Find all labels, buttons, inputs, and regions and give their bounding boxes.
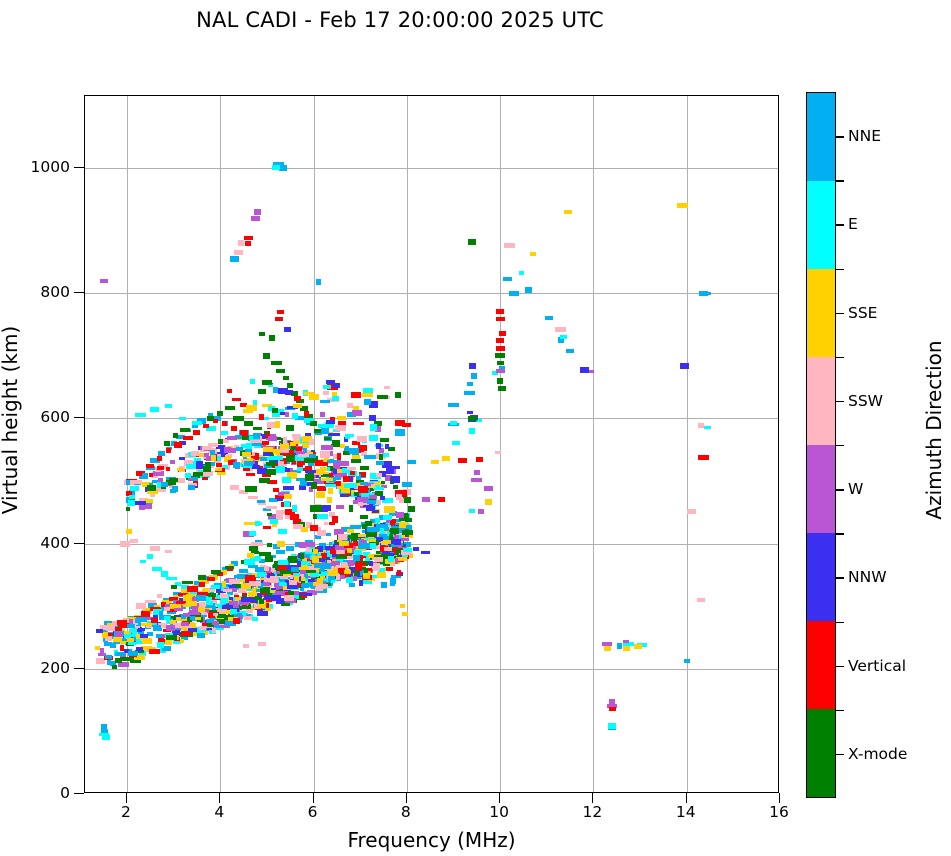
x-axis-tick-label: 6 [308, 803, 318, 821]
colorbar-tick [836, 401, 844, 402]
data-point [199, 626, 206, 630]
data-point [343, 476, 350, 482]
data-point [283, 486, 294, 490]
data-point [272, 165, 280, 170]
data-point [397, 570, 401, 576]
data-point [687, 509, 696, 514]
data-point [336, 505, 344, 509]
data-point [179, 417, 186, 420]
data-point [238, 240, 244, 246]
data-point [188, 485, 195, 490]
colorbar-label-nnw: NNW [848, 568, 887, 586]
data-point [258, 389, 266, 394]
data-point [179, 457, 185, 460]
data-point [221, 599, 226, 604]
data-point [164, 607, 170, 611]
colorbar-tick [836, 577, 844, 578]
data-point [233, 618, 240, 624]
data-point [338, 461, 349, 466]
data-point [283, 437, 287, 444]
data-point [317, 486, 326, 491]
data-point [285, 390, 293, 395]
data-point [177, 468, 185, 471]
data-point [317, 514, 328, 519]
data-point [316, 492, 325, 498]
data-point [192, 421, 202, 425]
data-point [212, 621, 219, 625]
data-point [438, 497, 445, 502]
data-point [192, 477, 198, 481]
data-point [338, 534, 347, 540]
data-point [305, 470, 316, 473]
data-point [100, 279, 108, 283]
data-point [376, 461, 384, 465]
data-point [309, 394, 319, 400]
data-point [211, 570, 221, 574]
data-point [321, 445, 333, 450]
data-point [105, 655, 112, 659]
data-point [386, 467, 394, 474]
data-point [485, 499, 492, 505]
data-point [476, 457, 483, 462]
data-point [323, 385, 331, 389]
data-point [262, 380, 272, 385]
colorbar-tick [836, 224, 844, 225]
data-point [258, 642, 266, 646]
data-point [140, 560, 146, 563]
data-point [337, 453, 341, 460]
colorbar-segment-vertical [807, 621, 835, 709]
data-point [150, 407, 159, 412]
data-point [196, 595, 206, 601]
data-point [129, 495, 135, 499]
data-point [270, 519, 278, 524]
data-point [128, 642, 136, 645]
colorbar-boundary-tick [836, 357, 844, 358]
data-point [119, 623, 127, 628]
data-point [284, 595, 294, 601]
data-point [120, 541, 130, 547]
data-point [276, 550, 285, 554]
data-point [580, 367, 589, 373]
data-point [677, 203, 688, 208]
data-point [504, 243, 515, 248]
data-point [495, 353, 505, 358]
data-point [218, 439, 223, 444]
data-point [474, 470, 480, 475]
x-axis-tick-label: 12 [583, 803, 603, 821]
data-point [212, 606, 216, 610]
data-point [157, 482, 161, 488]
data-point [173, 433, 178, 438]
data-point [211, 455, 216, 461]
data-point [253, 400, 257, 405]
data-point [164, 616, 170, 620]
colorbar-label-w: W [848, 480, 863, 498]
data-point [220, 593, 224, 598]
x-axis-label: Frequency (MHz) [84, 828, 779, 852]
data-point [399, 498, 404, 503]
data-point [497, 378, 503, 384]
data-point [496, 369, 505, 373]
data-point [372, 510, 379, 513]
data-point [292, 505, 297, 512]
x-axis-tick-label: 10 [489, 803, 509, 821]
data-point [157, 466, 164, 470]
data-point [377, 572, 386, 578]
data-point [347, 529, 354, 533]
colorbar-segment-sse [807, 269, 835, 357]
data-point [217, 472, 226, 475]
data-point [383, 515, 392, 520]
data-point [233, 604, 239, 608]
data-point [399, 522, 406, 528]
data-point [309, 439, 314, 445]
data-point [484, 486, 493, 491]
colorbar-segment-ssw [807, 357, 835, 445]
data-point [138, 628, 145, 631]
data-point [271, 595, 281, 601]
data-point [300, 561, 311, 565]
data-point [363, 573, 370, 579]
data-point [208, 593, 216, 597]
data-point [684, 659, 690, 663]
data-point [335, 425, 346, 431]
data-point [293, 524, 303, 529]
data-point [452, 441, 460, 445]
data-point [202, 477, 208, 480]
data-point [371, 484, 375, 487]
data-point [380, 438, 389, 442]
data-point [609, 707, 616, 711]
data-point [142, 473, 148, 478]
colorbar-label-nne: NNE [848, 127, 881, 145]
data-point [230, 256, 239, 262]
data-point [181, 622, 189, 626]
colorbar-segment-w [807, 445, 835, 533]
data-point [157, 642, 164, 648]
data-point [276, 571, 280, 574]
x-axis-tick-label: 8 [401, 803, 411, 821]
data-point [271, 361, 282, 365]
data-point [347, 549, 352, 553]
data-point [369, 561, 373, 566]
y-axis-tick-label: 400 [40, 534, 70, 552]
data-point [321, 428, 329, 434]
data-point [245, 486, 257, 492]
data-point [186, 601, 197, 606]
data-point [286, 425, 294, 431]
data-point [286, 546, 294, 551]
colorbar-label: Azimuth Direction [922, 340, 946, 519]
data-point [140, 634, 148, 638]
data-point [321, 462, 328, 466]
data-point [227, 436, 237, 440]
data-point [311, 482, 317, 489]
data-point [251, 542, 263, 546]
y-axis-tick-label: 800 [40, 283, 70, 301]
data-point [298, 454, 309, 457]
data-point [245, 241, 251, 246]
data-point [319, 558, 325, 562]
data-point [350, 471, 355, 475]
data-point [222, 421, 227, 426]
data-point [127, 624, 135, 628]
data-point [300, 481, 307, 486]
data-point [241, 597, 251, 602]
data-point [255, 567, 264, 572]
data-point [181, 616, 186, 619]
y-axis-tick [74, 793, 84, 794]
data-point [498, 386, 506, 391]
colorbar-boundary-tick [836, 445, 844, 446]
x-axis-tick-label: 2 [121, 803, 131, 821]
data-point [525, 287, 532, 293]
x-axis-tick-label: 14 [676, 803, 696, 821]
colorbar-segment-nnw [807, 533, 835, 621]
x-axis-tick [219, 793, 220, 803]
data-point [377, 395, 388, 399]
data-point [319, 569, 325, 572]
data-point [225, 566, 234, 569]
data-point [248, 496, 258, 499]
data-point [207, 416, 214, 421]
data-point [283, 376, 289, 380]
data-point [202, 446, 212, 450]
data-point [185, 473, 191, 478]
data-point [331, 580, 335, 583]
data-point [212, 628, 216, 633]
data-point [293, 404, 302, 408]
data-point [244, 421, 253, 426]
data-point [468, 416, 477, 421]
data-point [115, 652, 125, 656]
data-point [403, 548, 412, 552]
data-point [201, 612, 207, 615]
ionogram-plot-area [84, 95, 779, 793]
data-point [276, 451, 280, 456]
colorbar-tick [836, 136, 844, 137]
data-point [263, 447, 273, 452]
colorbar-tick [836, 313, 844, 314]
data-point [357, 436, 367, 442]
data-point [320, 412, 325, 417]
data-point [389, 534, 393, 540]
data-point [341, 488, 350, 493]
data-point [259, 552, 271, 556]
data-point [135, 501, 146, 505]
data-point [519, 271, 524, 275]
data-point [276, 601, 283, 604]
colorbar-label-vertical: Vertical [848, 657, 906, 675]
data-point [496, 317, 505, 321]
data-point [388, 556, 394, 562]
data-point [353, 406, 359, 410]
x-axis-tick [686, 793, 687, 803]
scatter-points-layer [85, 96, 778, 792]
data-point [395, 512, 400, 515]
data-point [323, 391, 329, 395]
colorbar-boundary-tick [836, 533, 844, 534]
data-point [126, 480, 130, 485]
data-point [147, 632, 153, 636]
data-point [166, 625, 175, 631]
data-point [112, 665, 117, 669]
data-point [321, 478, 333, 481]
data-point [259, 332, 265, 336]
data-point [267, 513, 272, 516]
data-point [285, 412, 289, 417]
data-point [233, 462, 240, 468]
data-point [191, 451, 199, 456]
data-point [564, 210, 572, 214]
data-point [149, 473, 153, 477]
data-point [393, 485, 398, 489]
data-point [253, 433, 260, 439]
colorbar-segment-nne [807, 93, 835, 181]
data-point [196, 464, 202, 469]
data-point [356, 476, 361, 480]
data-point [330, 417, 335, 420]
data-point [623, 646, 630, 651]
data-point [359, 482, 368, 485]
data-point [469, 428, 475, 434]
data-point [468, 239, 476, 245]
data-point [115, 658, 122, 663]
data-point [339, 575, 345, 579]
x-axis-tick [313, 793, 314, 803]
data-point [402, 482, 412, 487]
data-point [130, 539, 138, 543]
data-point [157, 594, 162, 598]
data-point [128, 651, 138, 656]
data-point [95, 646, 100, 650]
data-point [352, 455, 360, 459]
y-axis-tick [74, 417, 84, 418]
data-point [180, 639, 184, 643]
data-point [381, 481, 385, 484]
data-point [158, 638, 164, 642]
colorbar-boundary-tick [836, 180, 844, 181]
data-point [469, 509, 475, 513]
data-point [345, 434, 350, 439]
data-point [243, 644, 249, 648]
data-point [368, 554, 372, 558]
data-point [275, 317, 283, 321]
data-point [107, 660, 111, 665]
data-point [265, 556, 273, 562]
data-point [337, 469, 342, 473]
data-point [347, 483, 357, 488]
data-point [364, 455, 376, 459]
data-point [398, 545, 402, 548]
colorbar-segment-x-mode [807, 709, 835, 797]
data-point [384, 386, 390, 389]
data-point [169, 478, 178, 482]
data-point [328, 433, 340, 436]
data-point [252, 617, 258, 621]
data-point [208, 443, 218, 447]
data-point [171, 585, 177, 589]
data-point [199, 582, 205, 587]
data-point [176, 601, 185, 604]
data-point [380, 496, 385, 500]
data-point [617, 643, 622, 649]
data-point [545, 316, 553, 320]
data-point [698, 455, 709, 460]
data-point [704, 426, 711, 429]
data-point [294, 396, 301, 401]
data-point [405, 529, 409, 533]
data-point [326, 420, 335, 424]
y-axis-tick [74, 292, 84, 293]
data-point [243, 468, 250, 471]
data-point [217, 411, 223, 416]
data-point [204, 453, 209, 457]
data-point [360, 466, 369, 470]
data-point [102, 735, 110, 740]
data-point [383, 453, 389, 457]
data-point [230, 485, 239, 490]
y-axis-tick-label: 600 [40, 408, 70, 426]
data-point [159, 611, 163, 615]
data-point [340, 444, 345, 448]
data-point [231, 426, 237, 431]
data-point [146, 464, 154, 468]
data-point [257, 500, 265, 503]
data-point [246, 609, 253, 613]
data-point [280, 582, 286, 586]
data-point [370, 543, 376, 549]
data-point [566, 349, 574, 353]
data-point [246, 405, 257, 411]
data-point [353, 422, 364, 425]
data-point [400, 604, 405, 608]
x-axis-tick-label: 4 [214, 803, 224, 821]
data-point [458, 458, 467, 463]
x-axis-tick [126, 793, 127, 803]
data-point [165, 404, 172, 408]
data-point [602, 642, 612, 646]
data-point [211, 585, 220, 589]
data-point [318, 546, 323, 552]
data-point [698, 423, 704, 428]
data-point [560, 335, 567, 339]
data-point [182, 581, 193, 584]
data-point [349, 448, 359, 454]
data-point [369, 435, 378, 441]
data-point [367, 527, 379, 532]
data-point [407, 460, 416, 464]
data-point [150, 546, 160, 551]
data-point [223, 589, 232, 592]
data-point [255, 521, 260, 526]
data-point [249, 531, 256, 536]
data-point [174, 442, 182, 448]
data-point [353, 555, 360, 561]
data-point [249, 546, 258, 551]
data-point [291, 567, 299, 572]
data-point [263, 353, 270, 359]
data-point [369, 495, 377, 499]
data-point [316, 279, 321, 285]
colorbar-label-ssw: SSW [848, 392, 883, 410]
data-point [247, 553, 254, 558]
data-point [349, 583, 355, 587]
data-point [135, 413, 146, 417]
data-point [268, 436, 277, 441]
data-point [499, 331, 506, 336]
